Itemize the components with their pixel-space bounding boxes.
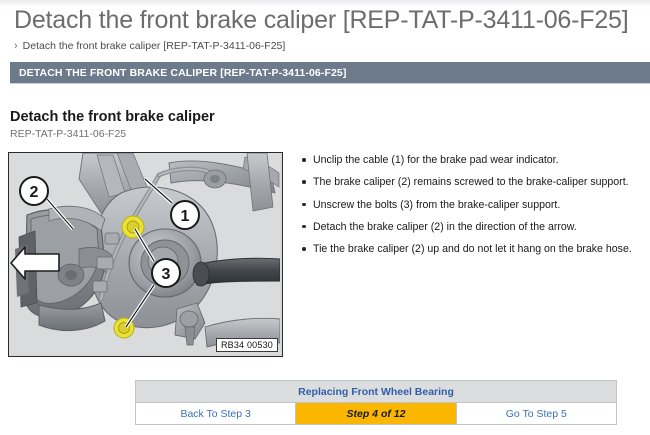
- brake-caliper-illustration: 2 1 3: [9, 153, 280, 354]
- callout-bubble-3: 3: [152, 259, 180, 287]
- chevron-right-icon: ›: [14, 41, 17, 52]
- breadcrumb: › Detach the front brake caliper [REP-TA…: [14, 40, 285, 52]
- list-item: Tie the brake caliper (2) up and do not …: [301, 242, 645, 256]
- callout-bubble-1: 1: [171, 201, 199, 229]
- content-heading: Detach the front brake caliper: [10, 109, 215, 125]
- section-header-bar: DETACH THE FRONT BRAKE CALIPER [REP-TAT-…: [10, 62, 650, 84]
- technical-diagram: 2 1 3 RB34 00530: [8, 152, 283, 357]
- figure-reference-code: RB34 00530: [216, 338, 278, 352]
- list-item: Unscrew the bolts (3) from the brake-cal…: [301, 198, 645, 212]
- highlighted-bolt-upper: [122, 216, 144, 238]
- table-row: Back To Step 3 Step 4 of 12 Go To Step 5: [136, 403, 617, 425]
- breadcrumb-item-current[interactable]: Detach the front brake caliper [REP-TAT-…: [23, 40, 286, 52]
- back-step-link[interactable]: Back To Step 3: [136, 403, 296, 425]
- instruction-steps-list: Unclip the cable (1) for the brake pad w…: [301, 153, 645, 264]
- page-title: Detach the front brake caliper [REP-TAT-…: [14, 6, 644, 35]
- svg-text:1: 1: [181, 208, 190, 225]
- table-row: Replacing Front Wheel Bearing: [136, 381, 617, 403]
- section-header-label: DETACH THE FRONT BRAKE CALIPER [REP-TAT-…: [10, 67, 346, 79]
- step-navigation: Replacing Front Wheel Bearing Back To St…: [135, 380, 617, 425]
- callout-bubble-2: 2: [20, 177, 48, 205]
- svg-text:2: 2: [30, 184, 39, 201]
- next-step-link[interactable]: Go To Step 5: [456, 403, 616, 425]
- list-item: Unclip the cable (1) for the brake pad w…: [301, 153, 645, 167]
- list-item: Detach the brake caliper (2) in the dire…: [301, 220, 645, 234]
- list-item: The brake caliper (2) remains screwed to…: [301, 175, 645, 189]
- svg-text:3: 3: [162, 266, 171, 283]
- current-step-indicator: Step 4 of 12: [296, 403, 456, 425]
- content-subheading-code: REP-TAT-P-3411-06-F25: [10, 128, 126, 140]
- procedure-title: Replacing Front Wheel Bearing: [136, 381, 617, 403]
